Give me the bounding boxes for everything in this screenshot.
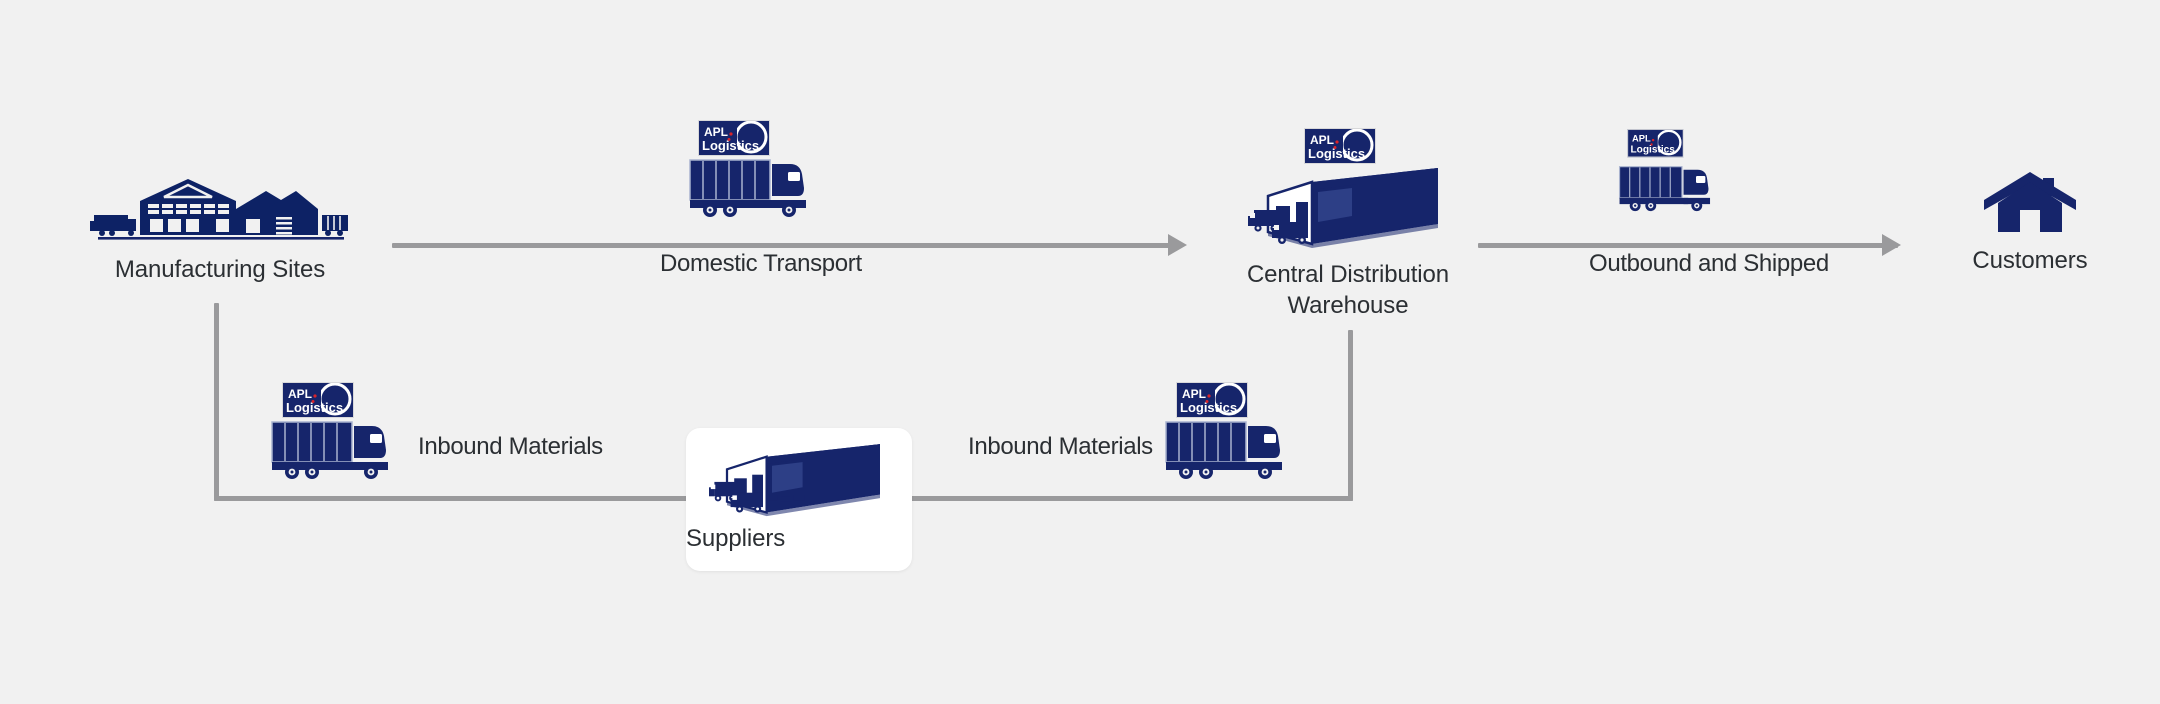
connector-warehouse-down (1348, 330, 1353, 501)
apl-logo-badge-inbound-right: APL Logistics (1176, 382, 1248, 418)
svg-text:Logistics: Logistics (1180, 400, 1237, 415)
apl-truck-icon-domestic-transport: APL Logistics (688, 120, 818, 225)
node-label-customers: Customers (1930, 246, 2130, 277)
node-central-distribution-warehouse[interactable]: APL Logistics (1218, 128, 1478, 321)
node-manufacturing-sites[interactable]: Manufacturing Sites (60, 175, 380, 286)
arrow-outbound-line (1478, 243, 1898, 248)
warehouse-icon-suppliers (686, 428, 912, 520)
svg-text:APL: APL (288, 387, 312, 401)
apl-truck-icon-outbound: APL Logistics (1618, 162, 1719, 217)
node-customers[interactable]: Customers (1930, 170, 2130, 277)
apl-logo-badge-warehouse: APL Logistics (1304, 128, 1376, 164)
node-label-manufacturing-sites: Manufacturing Sites (60, 255, 380, 286)
arrow-domestic-transport-line (392, 243, 1182, 248)
apl-truck-icon-inbound-right: APL Logistics (1164, 382, 1294, 487)
node-label-central-distribution-warehouse: Central Distribution Warehouse (1218, 260, 1478, 321)
flow-label-inbound-materials-right: Inbound Materials (968, 433, 1153, 461)
apl-logo-badge-inbound-left: APL Logistics (282, 382, 354, 418)
svg-text:Logistics: Logistics (1308, 146, 1365, 161)
supply-chain-diagram: Domestic Transport Outbound and Shipped (0, 0, 2160, 704)
apl-truck-icon-inbound-left: APL Logistics (270, 382, 400, 487)
warehouse-icon (1218, 166, 1478, 252)
factory-icon (60, 175, 380, 245)
arrow-outbound-head (1882, 234, 1901, 256)
svg-text:APL: APL (704, 125, 728, 139)
apl-logo-badge-outbound: APL Logistics (1627, 129, 1683, 157)
svg-text:APL: APL (1182, 387, 1206, 401)
flow-label-domestic-transport: Domestic Transport (660, 250, 862, 278)
flow-label-inbound-materials-left: Inbound Materials (418, 433, 603, 461)
svg-text:Logistics: Logistics (702, 138, 759, 153)
house-icon (1930, 170, 2130, 234)
node-suppliers-card[interactable]: Suppliers (686, 428, 912, 571)
node-label-suppliers: Suppliers (686, 524, 912, 555)
connector-suppliers-to-warehouse (910, 496, 1353, 501)
connector-manufacturing-down (214, 303, 219, 501)
apl-logo-badge: APL Logistics (698, 120, 770, 156)
flow-label-outbound-shipped: Outbound and Shipped (1589, 250, 1829, 278)
svg-text:APL: APL (1632, 134, 1651, 144)
connector-manufacturing-to-suppliers (214, 496, 688, 501)
svg-text:Logistics: Logistics (286, 400, 343, 415)
svg-text:Logistics: Logistics (1630, 145, 1675, 156)
svg-text:APL: APL (1310, 133, 1334, 147)
arrow-domestic-transport-head (1168, 234, 1187, 256)
